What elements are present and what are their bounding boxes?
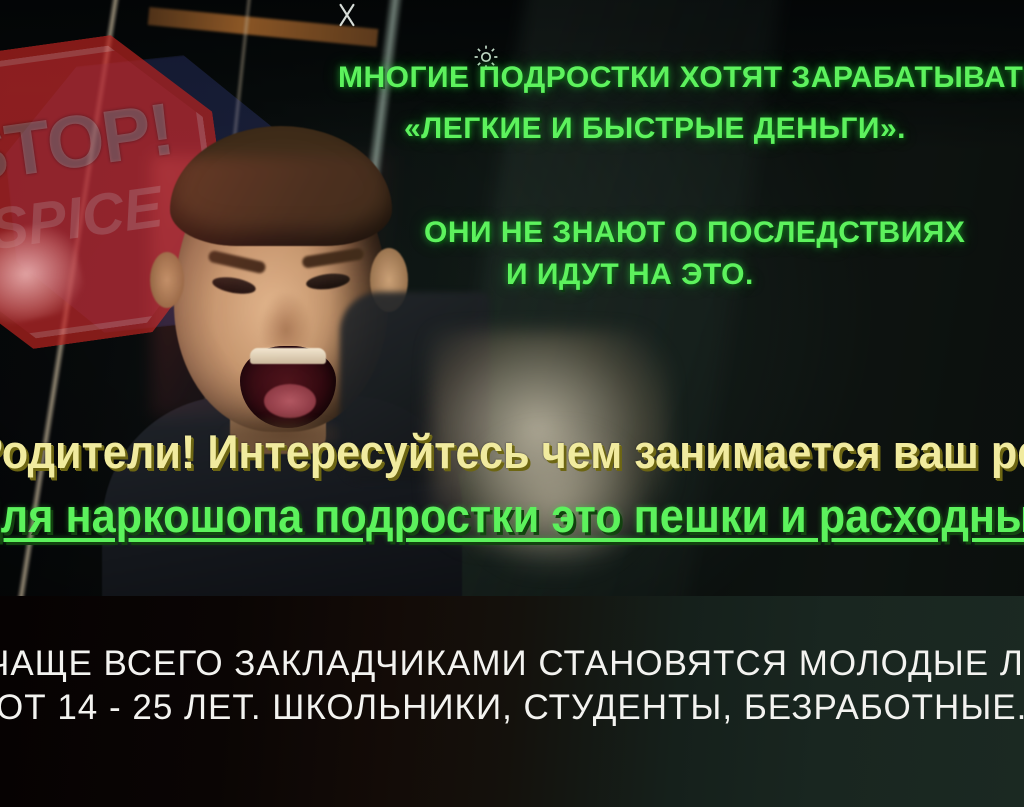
caption-line-2: ОТ 14 - 25 ЛЕТ. ШКОЛЬНИКИ, СТУДЕНТЫ, БЕЗ… bbox=[0, 688, 1024, 728]
headline-line-3: ОНИ НЕ ЗНАЮТ О ПОСЛЕДСТВИЯХ bbox=[424, 216, 965, 250]
banner-green-line: Для наркошопа подростки это пешки и расх… bbox=[0, 488, 1024, 543]
headline-line-2: «ЛЕГКИЕ И БЫСТРЫЕ ДЕНЬГИ». bbox=[404, 112, 906, 146]
caption-line-1: ЧАЩЕ ВСЕГО ЗАКЛАДЧИКАМИ СТАНОВЯТСЯ МОЛОД… bbox=[0, 644, 1024, 684]
close-icon[interactable] bbox=[336, 3, 358, 27]
headline-line-4: И ИДУТ НА ЭТО. bbox=[506, 258, 754, 292]
poster-frame: STOP! SPICE bbox=[0, 0, 1024, 807]
headline-line-1: МНОГИЕ ПОДРОСТКИ ХОТЯТ ЗАРАБАТЫВАТЬ bbox=[338, 61, 1024, 95]
banner-yellow-line: Родители! Интересуйтесь чем занимается в… bbox=[0, 424, 1024, 479]
photo-background: STOP! SPICE bbox=[0, 0, 1024, 596]
